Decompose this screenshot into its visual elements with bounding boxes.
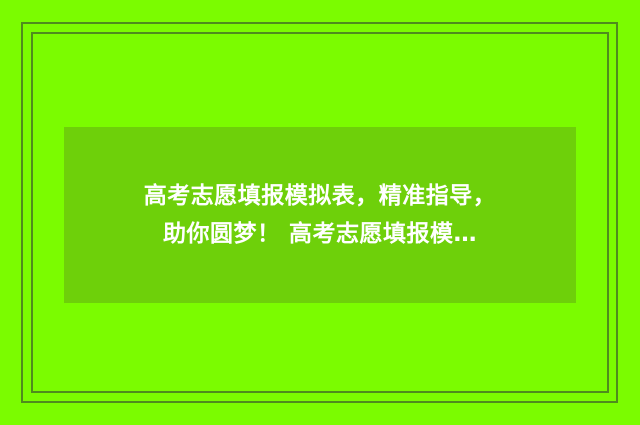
- headline-line-1: 高考志愿填报模拟表，精准指导，: [144, 177, 497, 215]
- banner-canvas: 高考志愿填报模拟表，精准指导， 助你圆梦！ 高考志愿填报模…: [0, 0, 640, 425]
- headline-line-2: 助你圆梦！ 高考志愿填报模…: [163, 215, 477, 253]
- headline-panel: 高考志愿填报模拟表，精准指导， 助你圆梦！ 高考志愿填报模…: [64, 127, 576, 303]
